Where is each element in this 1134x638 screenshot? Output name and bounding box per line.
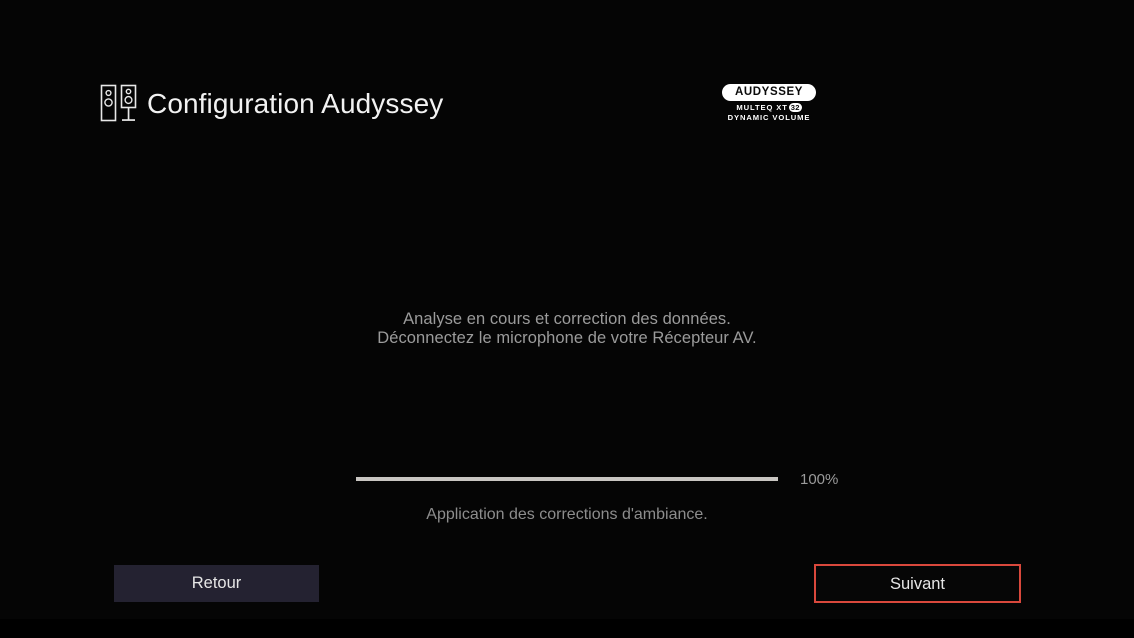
letterbox-bottom	[0, 619, 1134, 638]
brand-multeq-line: MULTEQ XT32	[722, 103, 816, 112]
back-button[interactable]: Retour	[114, 565, 319, 602]
progress-row: 100%	[356, 471, 856, 491]
audyssey-brand-logo: AUDYSSEY MULTEQ XT32 DYNAMIC VOLUME	[722, 84, 816, 122]
audyssey-setup-screen: Configuration Audyssey AUDYSSEY MULTEQ X…	[0, 0, 1134, 638]
brand-dynamic-volume-line: DYNAMIC VOLUME	[722, 113, 816, 122]
next-button[interactable]: Suivant	[814, 564, 1021, 603]
brand-name: AUDYSSEY	[722, 84, 816, 101]
speakers-icon	[100, 84, 138, 124]
progress-percent-label: 100%	[800, 471, 838, 489]
progress-status-text: Application des corrections d'ambiance.	[0, 505, 1134, 525]
status-message-line-2: Déconnectez le microphone de votre Récep…	[0, 329, 1134, 348]
header: Configuration Audyssey AUDYSSEY MULTEQ X…	[0, 0, 1134, 160]
page-title: Configuration Audyssey	[147, 86, 443, 122]
brand-xt-badge: 32	[789, 103, 802, 112]
status-message: Analyse en cours et correction des donné…	[0, 310, 1134, 347]
status-message-line-1: Analyse en cours et correction des donné…	[0, 310, 1134, 329]
progress-bar-fill	[356, 477, 778, 481]
progress-bar-track	[356, 477, 778, 481]
brand-multeq-text: MULTEQ XT	[736, 103, 787, 112]
